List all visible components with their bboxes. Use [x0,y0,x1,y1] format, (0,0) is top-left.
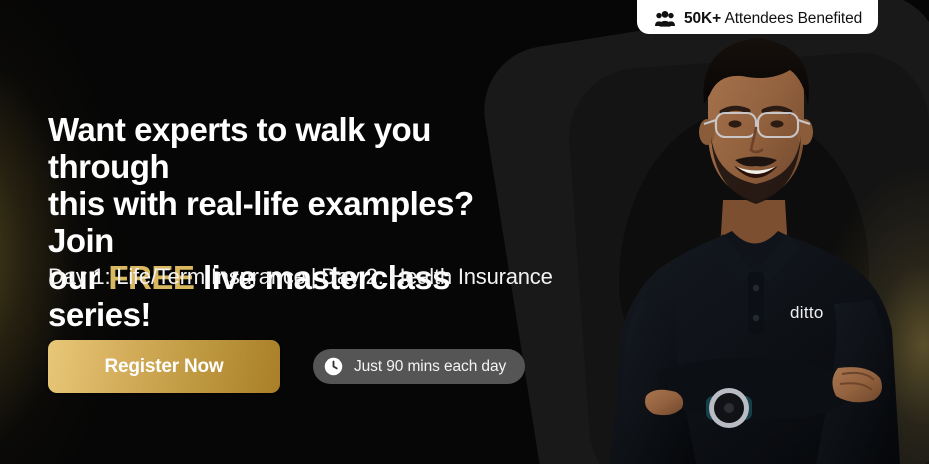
banner-content: Want experts to walk you throughthis wit… [48,0,588,464]
cta-row: Register Now Just 90 mins each day [48,340,525,393]
duration-pill: Just 90 mins each day [313,349,525,384]
schedule-day1: Day 1: Life/Term Insurance [48,264,306,289]
instructor-photo: ditto [580,0,929,464]
masterclass-promo-banner: ditto 50K+ Attendees Benefited Want expe… [0,0,929,464]
schedule-day2: Day 2: Health Insurance [321,264,552,289]
clock-icon [324,357,343,376]
schedule-separator: | [306,264,322,289]
register-now-button[interactable]: Register Now [48,340,280,393]
attendees-label: Attendees Benefited [724,10,862,27]
duration-pill-label: Just 90 mins each day [354,358,506,376]
headline: Want experts to walk you throughthis wit… [48,111,548,333]
headline-line-2: this with real-life examples? Join [48,185,474,259]
schedule-line: Day 1: Life/Term Insurance|Day 2: Health… [48,263,553,291]
headline-line-1: Want experts to walk you through [48,111,431,185]
attendees-count: 50K+ [684,10,721,27]
attendees-badge: 50K+ Attendees Benefited [637,0,878,34]
attendees-badge-text: 50K+ Attendees Benefited [684,10,862,27]
people-group-icon [655,11,675,27]
shirt-brand-logo: ditto [790,303,824,323]
